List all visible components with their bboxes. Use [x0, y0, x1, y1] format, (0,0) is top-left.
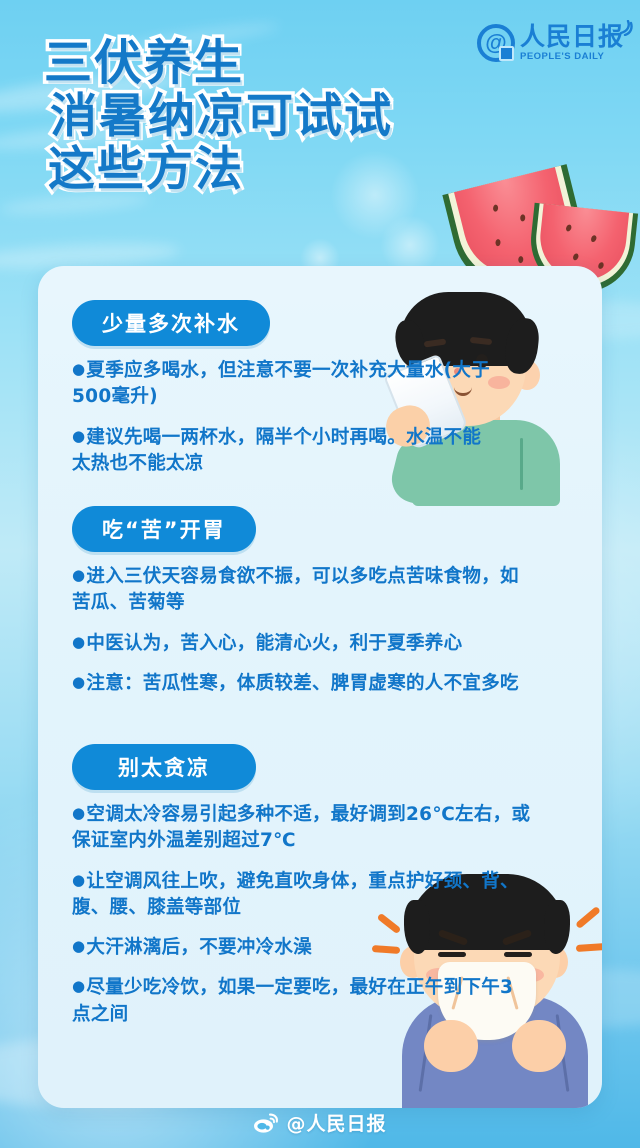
peoples-daily-logo: @ 人民日报 PEOPLE'S DAILY — [477, 24, 624, 62]
bullet-item: 空调太冷容易引起多种不适，最好调到26℃左右，或保证室内外温差别超过7℃ — [72, 802, 542, 855]
bullet-item: 大汗淋漓后，不要冲冷水澡 — [72, 935, 520, 961]
section-title-badge: 别太贪凉 — [72, 744, 256, 790]
bullet-item: 尽量少吃冷饮，如果一定要吃，最好在正午到下午3点之间 — [72, 975, 520, 1028]
section-bitter-food: 吃“苦”开胃 进入三伏天容易食欲不振，可以多吃点苦味食物，如苦瓜、苦菊等 中医认… — [72, 506, 582, 711]
bullet-item: 进入三伏天容易食欲不振，可以多吃点苦味食物，如苦瓜、苦菊等 — [72, 564, 520, 617]
content-card: 少量多次补水 夏季应多喝水，但注意不要一次补充大量水(大于500毫升) 建议先喝… — [38, 266, 602, 1108]
bullet-list: 空调太冷容易引起多种不适，最好调到26℃左右，或保证室内外温差别超过7℃ 让空调… — [72, 802, 582, 1028]
headline-line-2: 消暑纳凉可试试 — [50, 92, 393, 143]
footer-credit: @人民日报 — [0, 1109, 640, 1136]
bullet-item: 让空调风往上吹，避免直吹身体，重点护好颈、背、腹、腰、膝盖等部位 — [72, 869, 520, 922]
logo-english-name: PEOPLE'S DAILY — [520, 52, 624, 62]
bullet-list: 进入三伏天容易食欲不振，可以多吃点苦味食物，如苦瓜、苦菊等 中医认为，苦入心，能… — [72, 564, 582, 697]
bullet-item: 夏季应多喝水，但注意不要一次补充大量水(大于500毫升) — [72, 358, 492, 411]
bullet-item: 注意：苦瓜性寒，体质较差、脾胃虚寒的人不宜多吃 — [72, 671, 542, 697]
infographic-poster: @ 人民日报 PEOPLE'S DAILY 三伏养生 消暑纳凉可试试 这些方法 — [0, 0, 640, 1148]
bullet-item: 中医认为，苦入心，能清心火，利于夏季养心 — [72, 631, 542, 657]
page-title: 三伏养生 消暑纳凉可试试 这些方法 — [44, 38, 393, 197]
logo-text-block: 人民日报 PEOPLE'S DAILY — [520, 24, 624, 62]
bullet-item: 建议先喝一两杯水，隔半个小时再喝。水温不能太热也不能太凉 — [72, 425, 492, 478]
bullet-list: 夏季应多喝水，但注意不要一次补充大量水(大于500毫升) 建议先喝一两杯水，隔半… — [72, 358, 582, 477]
at-symbol-icon: @ — [477, 24, 515, 62]
headline-line-1: 三伏养生 — [44, 38, 393, 90]
section-title-badge: 吃“苦”开胃 — [72, 506, 256, 552]
weibo-icon — [253, 1113, 279, 1133]
footer-handle: @人民日报 — [286, 1109, 386, 1136]
section-avoid-cold: 别太贪凉 空调太冷容易引起多种不适，最好调到26℃左右，或保证室内外温差别超过7… — [72, 744, 582, 1042]
logo-chinese-name: 人民日报 — [520, 24, 624, 49]
signal-wave-icon — [619, 20, 633, 36]
section-hydration: 少量多次补水 夏季应多喝水，但注意不要一次补充大量水(大于500毫升) 建议先喝… — [72, 300, 582, 491]
section-title-badge: 少量多次补水 — [72, 300, 270, 346]
headline-line-3: 这些方法 — [48, 145, 393, 196]
